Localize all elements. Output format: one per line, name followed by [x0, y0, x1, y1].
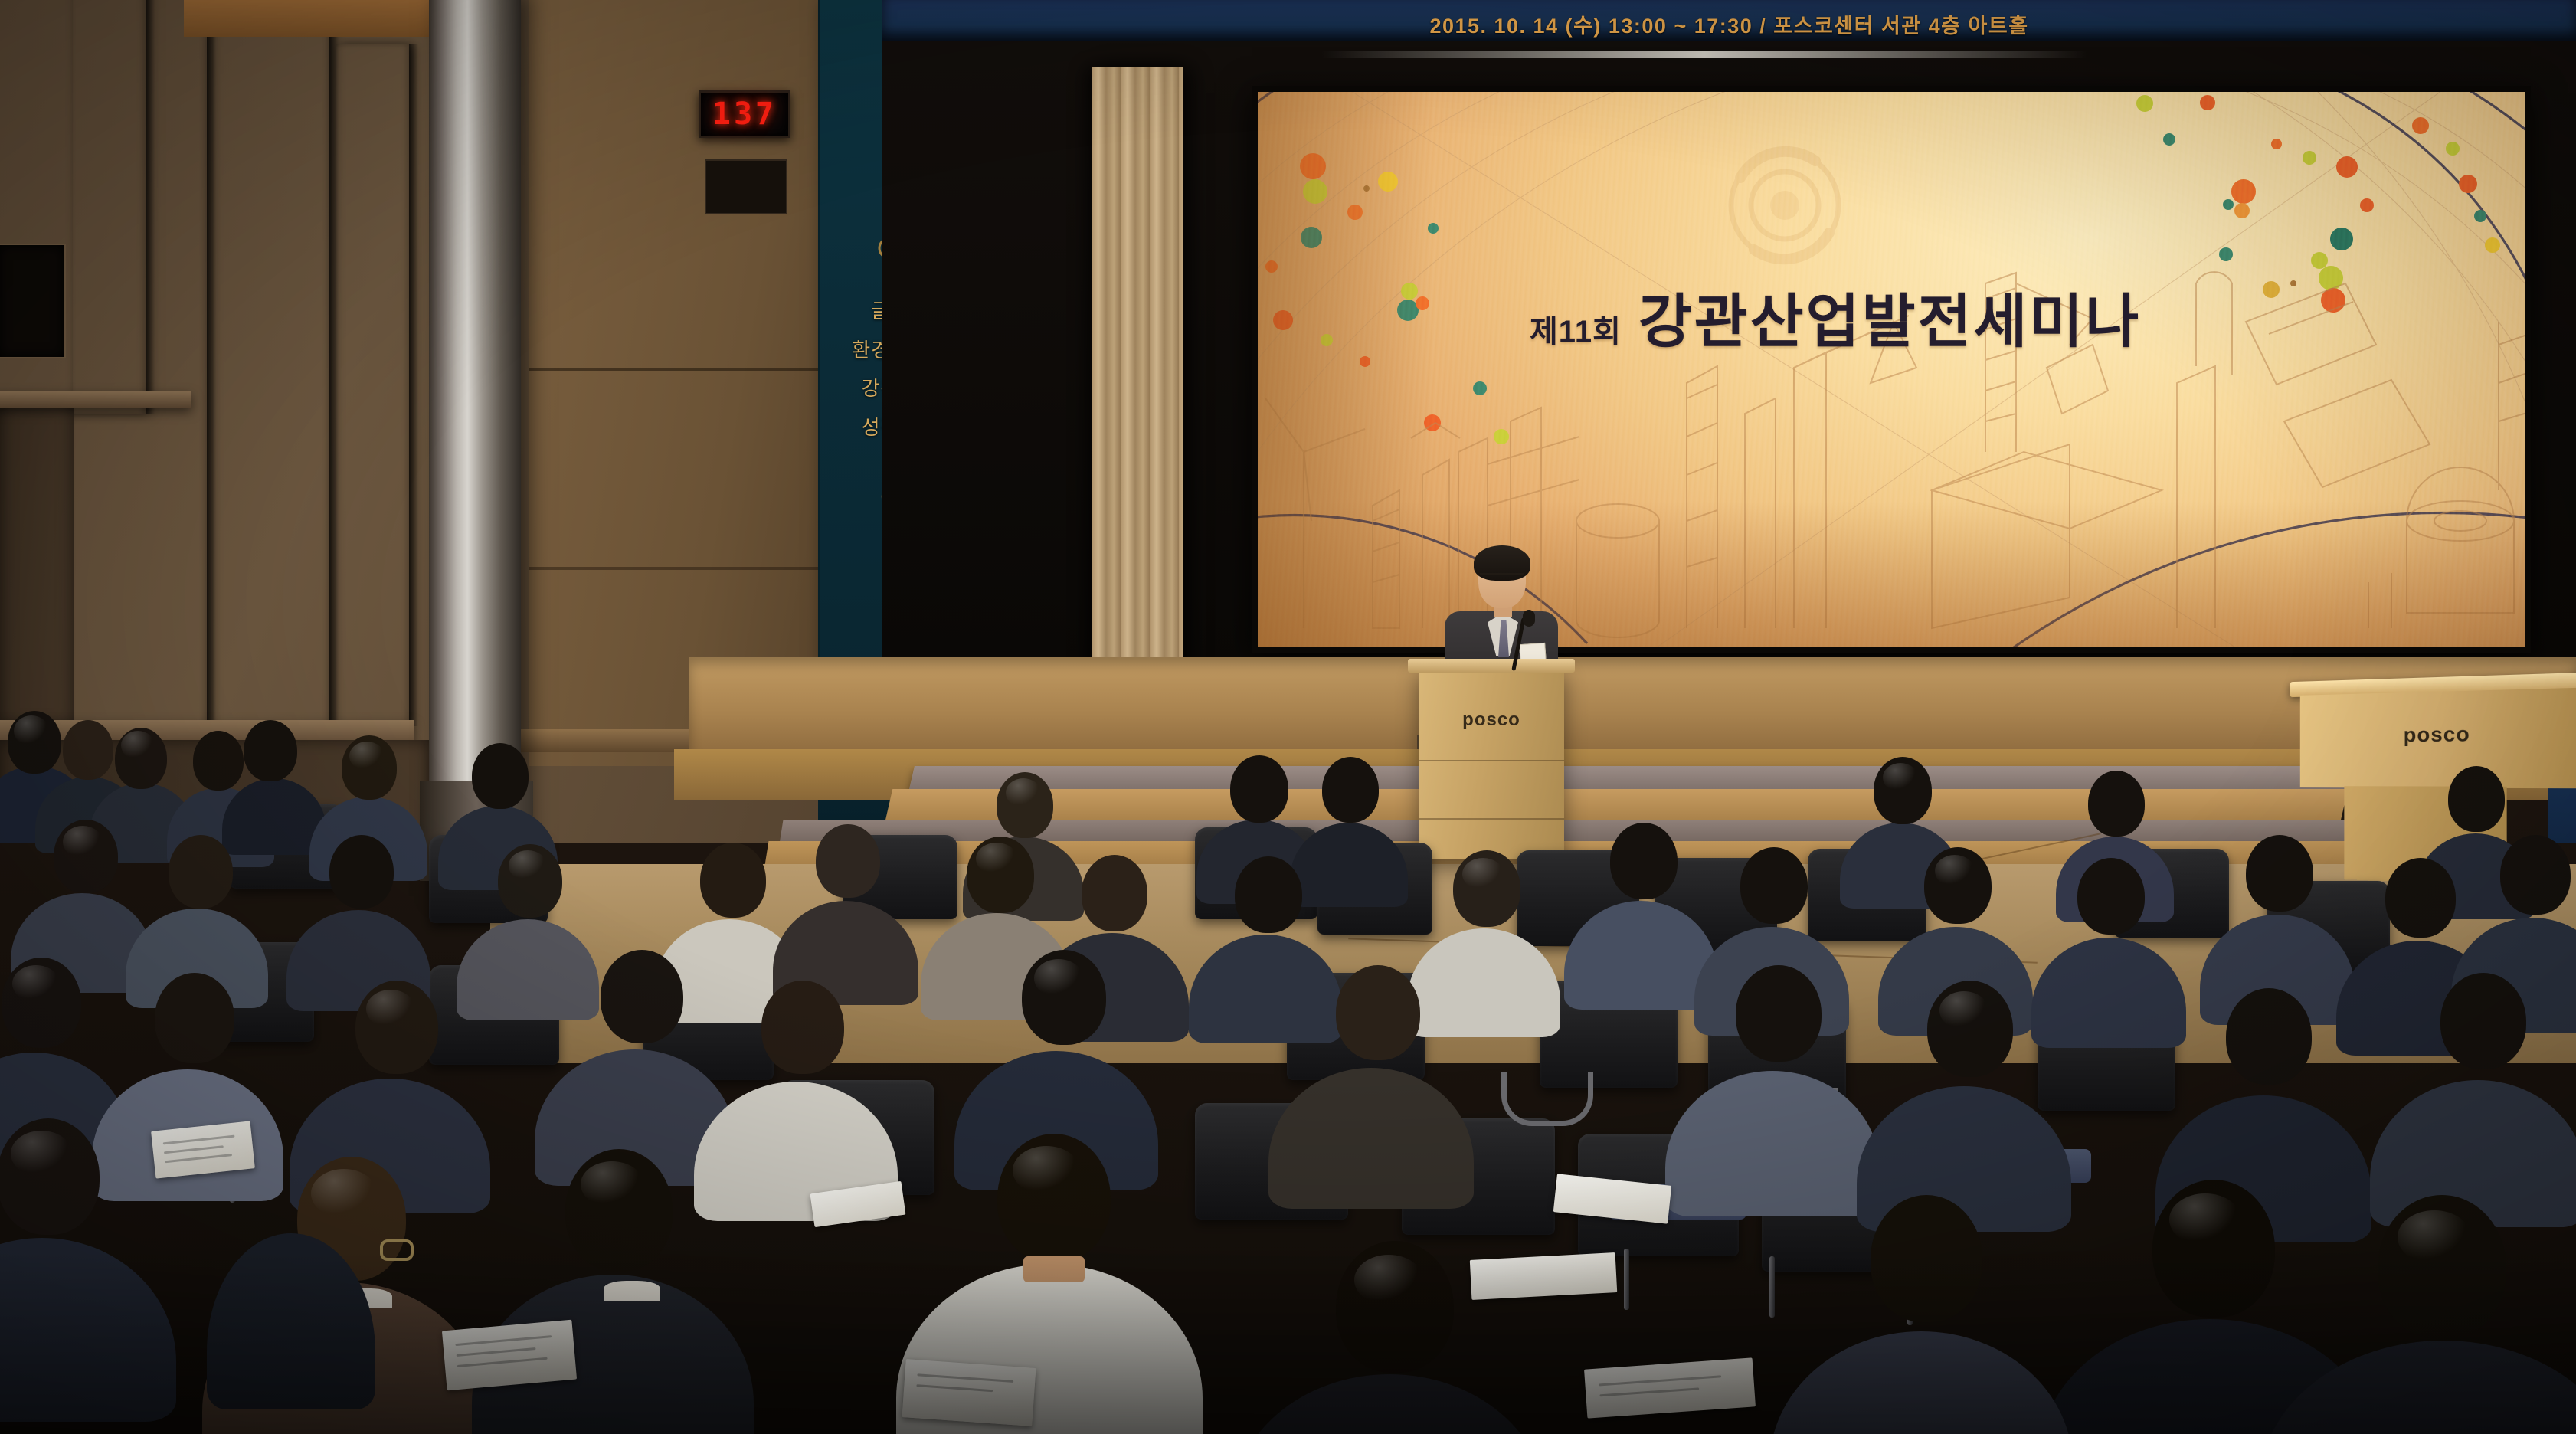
shirt-collar [604, 1281, 660, 1301]
audience-member [1287, 1241, 1501, 1434]
wall-recess-panel [0, 398, 74, 728]
screen-title: 제11회 강관산업발전세미나 [1530, 274, 2141, 358]
person-head [1736, 965, 1822, 1062]
hair-highlight [63, 826, 103, 858]
podium-top-ledge [1408, 659, 1575, 673]
person-shoulders [1769, 1331, 2073, 1434]
person-head [1322, 757, 1379, 823]
audience-member [2099, 1180, 2329, 1434]
wall-panel [213, 25, 329, 737]
audience-member [950, 1134, 1157, 1402]
audience-member [146, 835, 253, 988]
audience-member [567, 950, 712, 1149]
eyeglasses-icon [380, 1239, 414, 1261]
person-head [2226, 988, 2312, 1085]
audience-member [1302, 965, 1448, 1164]
person-shoulders [0, 1238, 176, 1422]
handout-document[interactable] [442, 1320, 577, 1391]
clock-lower-panel [705, 159, 787, 214]
person-head [1610, 823, 1678, 899]
audience-member [0, 1118, 138, 1364]
person-head [1740, 847, 1808, 924]
hair-highlight [1013, 1146, 1080, 1195]
hair-highlight [1883, 763, 1918, 792]
document-line [457, 1347, 536, 1357]
audience-member [2221, 835, 2336, 996]
person-shoulders [1268, 1068, 1474, 1209]
person-head [2077, 858, 2145, 935]
person-head [761, 981, 844, 1074]
person-head [700, 843, 766, 918]
document-line [916, 1384, 993, 1392]
chair-leg [1769, 1256, 1775, 1318]
hair-highlight [1939, 991, 1988, 1030]
audience-member [2321, 1195, 2566, 1434]
hair-highlight [1034, 959, 1083, 997]
hair-highlight [2169, 1193, 2241, 1246]
audience-member [2053, 858, 2168, 1019]
wall-panel [73, 0, 207, 735]
seminar-hall-photo: 137 글로벌 환경변화와 강관산업 성장전략 201 [0, 0, 2576, 1434]
person-head [169, 835, 233, 909]
audience-member [475, 844, 582, 997]
person-head [1082, 855, 1147, 931]
person-head [601, 950, 683, 1043]
hair-highlight [976, 843, 1017, 875]
valance-highlight-bar [1321, 51, 2087, 58]
stage-valance-banner: 2015. 10. 14 (수) 13:00 ~ 17:30 / 포스코센터 서… [882, 0, 2576, 41]
person-shoulders [2031, 938, 2186, 1048]
person-head [244, 720, 297, 781]
audience-member [306, 835, 414, 988]
person-head [1230, 755, 1288, 823]
eyeglasses-icon [1480, 573, 1524, 582]
hair-highlight [14, 715, 49, 746]
person-head [1235, 856, 1302, 933]
person-head [2448, 766, 2505, 832]
chair-frame-arc [1501, 1072, 1593, 1126]
person-head [2246, 835, 2313, 912]
wall-panel [336, 44, 409, 726]
handout-document[interactable] [1470, 1252, 1617, 1300]
audience-member [230, 720, 314, 850]
audience-member [1700, 965, 1854, 1172]
audience-member [728, 981, 873, 1180]
hair-highlight [1354, 1255, 1423, 1305]
person-shoulders [1232, 1374, 1547, 1434]
person-head [329, 835, 394, 909]
screen-title-prefix: 제11회 [1530, 306, 1622, 351]
wall-wood-band [184, 0, 437, 37]
hair-highlight [581, 1161, 643, 1207]
hair-highlight [12, 965, 60, 1002]
person-head [2440, 973, 2526, 1069]
hair-highlight [349, 742, 385, 771]
audience-member [1823, 1195, 2022, 1434]
audience-member [1586, 823, 1700, 984]
person-head [472, 743, 529, 809]
clock-digits: 137 [712, 97, 777, 132]
audience-area [0, 720, 2576, 1434]
hair-highlight [121, 731, 155, 760]
person-head [816, 824, 880, 898]
document-line [1599, 1375, 1721, 1386]
document-line [457, 1357, 548, 1367]
person-head [155, 973, 234, 1063]
hair-highlight [1462, 858, 1504, 890]
document-line [165, 1154, 232, 1163]
audience-member [230, 1210, 322, 1394]
microphone-head-icon [1523, 610, 1535, 627]
hair-highlight [2398, 1210, 2471, 1264]
wall-vent-grille [0, 244, 66, 358]
document-line [163, 1135, 235, 1145]
valance-text: 2015. 10. 14 (수) 13:00 ~ 17:30 / 포스코센터 서… [1429, 9, 2028, 41]
audience-member [988, 950, 1134, 1149]
audience-member [322, 981, 467, 1180]
wall-ledge [0, 391, 191, 408]
person-neck [1023, 1256, 1085, 1282]
audience-member [2191, 988, 2344, 1195]
handout-document[interactable] [1584, 1357, 1756, 1418]
stage-curtain [1092, 67, 1183, 680]
audience-member [1892, 981, 2045, 1187]
hair-highlight [1935, 855, 1975, 887]
hair-highlight [1006, 778, 1041, 807]
hair-highlight [366, 990, 415, 1028]
handout-document[interactable] [902, 1359, 1036, 1426]
screen-title-main: 강관산업발전세미나 [1638, 274, 2141, 358]
document-line [917, 1373, 1013, 1383]
person-head [2385, 858, 2456, 938]
person-head [2500, 835, 2571, 915]
document-line [164, 1145, 224, 1154]
person-head [2088, 771, 2145, 837]
hair-highlight [11, 1131, 72, 1177]
document-line [455, 1335, 552, 1346]
chair-leg [1624, 1249, 1629, 1310]
audience-member [793, 824, 900, 985]
document-line [1599, 1387, 1699, 1396]
audience-member [2405, 973, 2558, 1180]
led-clock-display: 137 [699, 90, 790, 138]
person-head [1336, 965, 1420, 1060]
person-head [1871, 1195, 1982, 1322]
hair-highlight [509, 850, 547, 881]
audience-member [31, 820, 138, 973]
